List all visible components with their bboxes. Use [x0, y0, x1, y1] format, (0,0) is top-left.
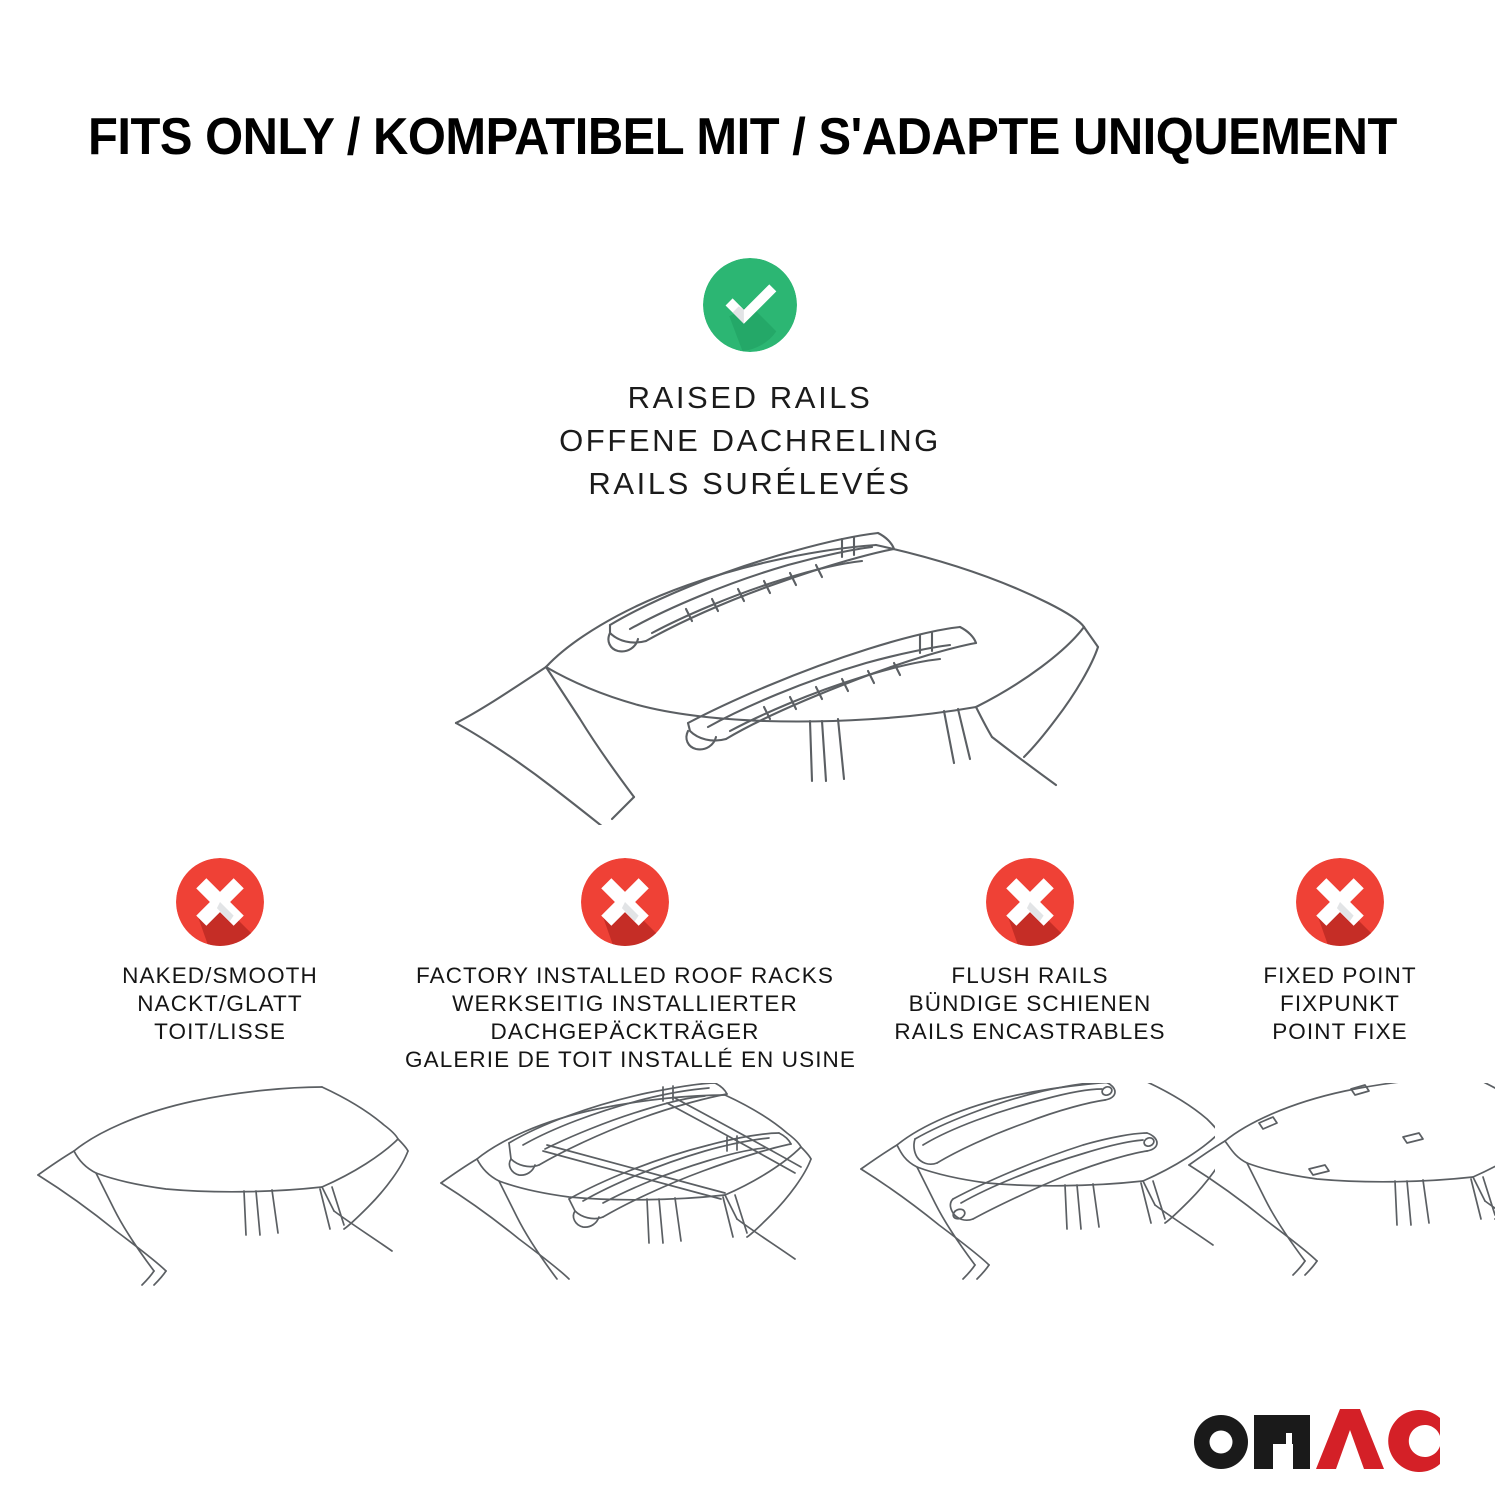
check-circle-icon: [703, 258, 797, 352]
omac-logo: [1188, 1406, 1442, 1472]
caption-line-de: FIXPUNKT: [1185, 990, 1495, 1018]
car-roof-raised-rails-illustration: [420, 505, 1100, 825]
caption-line-fr: TOIT/LISSE: [30, 1018, 410, 1046]
caption-line-fr: RAILS ENCASTRABLES: [845, 1018, 1215, 1046]
car-roof-factory-roof-racks-illustration: [405, 1083, 845, 1298]
caption-line-fr: POINT FIXE: [1185, 1018, 1495, 1046]
incompatible-caption: FIXED POINT FIXPUNKT POINT FIXE: [1185, 962, 1495, 1046]
incompatible-caption: NAKED/SMOOTH NACKT/GLATT TOIT/LISSE: [30, 962, 410, 1046]
page-title: FITS ONLY / KOMPATIBEL MIT / S'ADAPTE UN…: [88, 108, 1338, 166]
compatible-line-en: RAISED RAILS: [375, 376, 1125, 419]
compatible-caption: RAISED RAILS OFFENE DACHRELING RAILS SUR…: [375, 376, 1125, 505]
caption-line-en: FACTORY INSTALLED ROOF RACKS: [405, 962, 845, 990]
x-circle-icon: [986, 858, 1074, 946]
caption-line-en: FLUSH RAILS: [845, 962, 1215, 990]
x-circle-icon: [581, 858, 669, 946]
car-roof-naked-smooth-illustration: [30, 1083, 410, 1298]
x-circle-icon: [176, 858, 264, 946]
caption-line-de-2: DACHGEPÄCKTRÄGER: [405, 1018, 845, 1046]
compatible-line-fr: RAILS SURÉLEVÉS: [375, 462, 1125, 505]
incompatible-caption: FLUSH RAILS BÜNDIGE SCHIENEN RAILS ENCAS…: [845, 962, 1215, 1046]
x-circle-icon: [1296, 858, 1384, 946]
compatible-line-de: OFFENE DACHRELING: [375, 419, 1125, 462]
car-roof-flush-rails-illustration: [845, 1083, 1215, 1298]
caption-line-de-1: WERKSEITIG INSTALLIERTER: [405, 990, 845, 1018]
car-roof-fixed-point-illustration: [1185, 1083, 1495, 1298]
caption-line-en: NAKED/SMOOTH: [30, 962, 410, 990]
caption-line-en: FIXED POINT: [1185, 962, 1495, 990]
caption-line-de: NACKT/GLATT: [30, 990, 410, 1018]
caption-line-fr: GALERIE DE TOIT INSTALLÉ EN USINE: [405, 1046, 845, 1074]
caption-line-de: BÜNDIGE SCHIENEN: [845, 990, 1215, 1018]
incompatible-caption: FACTORY INSTALLED ROOF RACKS WERKSEITIG …: [405, 962, 845, 1074]
